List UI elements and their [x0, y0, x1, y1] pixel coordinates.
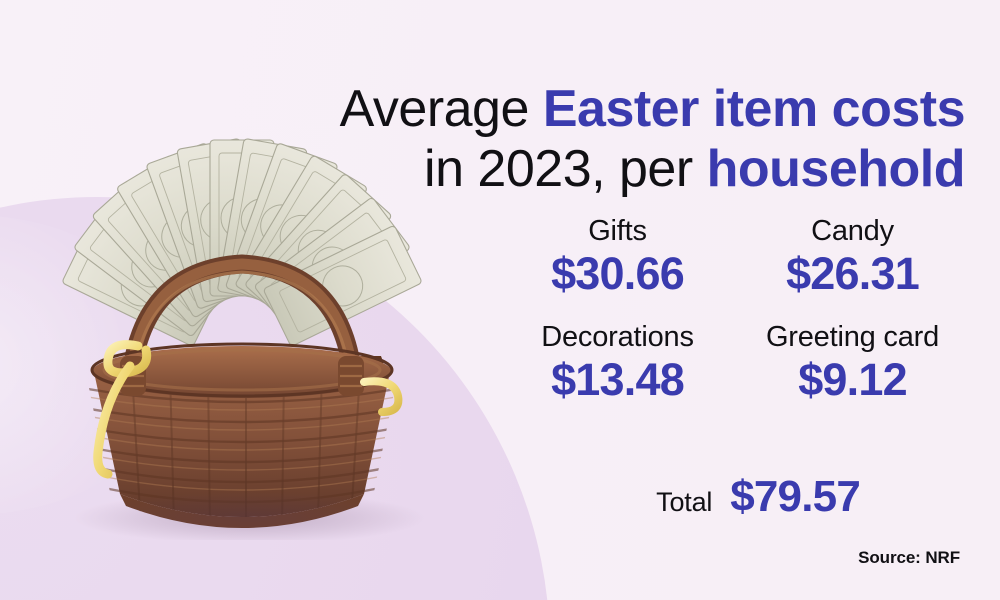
title-line-2-plain: in 2023, per [424, 140, 707, 198]
stat-greeting-card-label: Greeting card [735, 322, 970, 353]
stat-candy: Candy $26.31 [735, 216, 970, 300]
total-value: $79.57 [730, 472, 860, 522]
total-row: Total $79.57 [500, 472, 860, 522]
total-label: Total [656, 487, 712, 518]
stat-candy-label: Candy [735, 216, 970, 247]
stat-gifts: Gifts $30.66 [500, 216, 735, 300]
title-line-1-strong: Easter item costs [543, 80, 965, 138]
stat-decorations-value: $13.48 [500, 355, 735, 405]
stats-row-2: Decorations $13.48 Greeting card $9.12 [500, 322, 970, 406]
title-line-2: in 2023, per household [300, 139, 965, 199]
stats-row-1: Gifts $30.66 Candy $26.31 [500, 216, 970, 300]
title-line-2-strong: household [707, 140, 965, 198]
stat-greeting-card: Greeting card $9.12 [735, 322, 970, 406]
stat-greeting-card-value: $9.12 [735, 355, 970, 405]
cost-stats-grid: Gifts $30.66 Candy $26.31 Decorations $1… [500, 216, 970, 405]
stat-gifts-label: Gifts [500, 216, 735, 247]
title-line-1: Average Easter item costs [300, 79, 965, 139]
stat-decorations: Decorations $13.48 [500, 322, 735, 406]
title-line-1-plain: Average [340, 80, 543, 138]
stat-candy-value: $26.31 [735, 249, 970, 299]
stat-decorations-label: Decorations [500, 322, 735, 353]
infographic-canvas: 100 [0, 0, 1000, 600]
source-attribution: Source: NRF [858, 548, 960, 568]
page-title: Average Easter item costs in 2023, per h… [300, 79, 965, 200]
stat-gifts-value: $30.66 [500, 249, 735, 299]
